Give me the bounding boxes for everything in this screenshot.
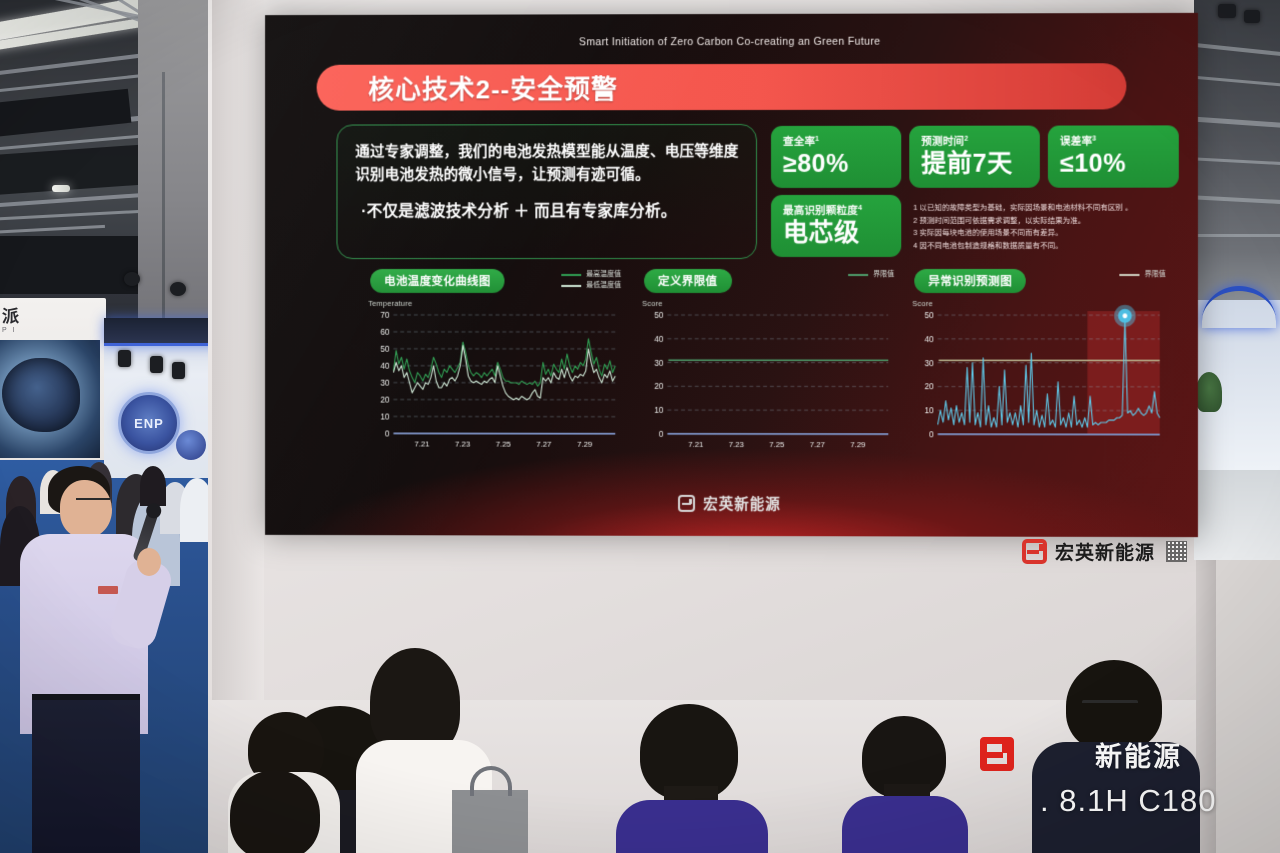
background-person (140, 466, 166, 506)
ceiling-truss (1194, 116, 1280, 129)
bag-body (452, 790, 528, 853)
chart-title: 异常识别预测图 (914, 269, 1026, 293)
body (842, 796, 968, 853)
metric-value: 提前7天 (921, 151, 1029, 177)
slide-footer-logo: 宏英新能源 (265, 492, 1198, 515)
y-tick: 10 (380, 411, 389, 421)
chart-ylabel: Score (642, 299, 663, 308)
slide-brand-text: 宏英新能源 (703, 493, 781, 514)
ceiling-truss (0, 225, 105, 234)
metric-value: 电芯级 (783, 220, 891, 246)
x-tick: 7.25 (769, 440, 785, 449)
brand-mark-icon (678, 495, 695, 512)
y-tick: 10 (925, 405, 935, 415)
metric-label: 误差率3 (1060, 133, 1169, 148)
ceiling-truss (1194, 195, 1280, 205)
y-tick: 40 (654, 334, 664, 344)
spotlight (150, 356, 163, 373)
ceiling-rigging (0, 89, 131, 137)
x-tick: 7.27 (536, 440, 551, 449)
booth-sign: 新能源 (1095, 735, 1182, 774)
y-tick: 50 (925, 310, 935, 320)
chart-plot-area: 01020304050 (912, 311, 1165, 453)
presenter-hand (137, 548, 161, 576)
slide-eyebrow: Smart Initiation of Zero Carbon Co-creat… (265, 35, 1198, 49)
booth-left-brand-text: 派 (2, 307, 20, 326)
legend-label: 界限值 (1145, 270, 1166, 281)
wall-brand-text: 宏英新能源 (1055, 538, 1155, 565)
shirt-logo (98, 586, 118, 594)
hall-pole (162, 72, 165, 337)
statement-paragraph-2: ·不仅是滤波技术分析 ＋ 而且有专家库分析。 (355, 200, 740, 224)
y-tick: 40 (380, 361, 389, 371)
chart-title: 电池温度变化曲线图 (370, 269, 504, 293)
metric-card-recall: 查全率1 ≥80% (771, 126, 901, 188)
chart-title: 定义界限值 (644, 269, 731, 293)
y-tick: 10 (654, 405, 664, 415)
x-tick: 7.23 (729, 440, 745, 449)
booth-plant (1196, 372, 1222, 412)
booth-product-screen (0, 340, 100, 458)
footnote-4: 4 因不同电池包制造规格和数据质量有不同。 (913, 240, 1187, 253)
presenter-face (60, 480, 112, 538)
booth-left-brand: 派 P I (0, 302, 88, 332)
chart-plot-area: 0102030405060707.217.237.257.277.29 (368, 311, 621, 452)
y-tick: 50 (654, 310, 664, 320)
metric-card-lead-time: 预测时间2 提前7天 (909, 126, 1040, 188)
footnote-2: 2 预测时间范围可依据需求调整，以实际结果为准。 (913, 214, 1187, 227)
y-tick: 30 (654, 357, 664, 367)
x-tick: 7.21 (688, 440, 704, 449)
ceiling-truss (1194, 234, 1280, 237)
enp-logo: ENP (118, 392, 180, 454)
x-tick: 7.29 (850, 440, 866, 449)
legend-label: 最高温度值 (586, 270, 621, 281)
y-tick: 40 (925, 334, 935, 344)
presenter-trousers (32, 700, 140, 853)
eyeglasses-icon (1082, 700, 1138, 710)
y-tick: 20 (380, 394, 389, 404)
booth-left-brand-sub: P I (2, 327, 88, 334)
x-tick: 7.23 (455, 439, 471, 448)
slide-title-bar: 核心技术2--安全预警 (317, 63, 1127, 110)
footnotes: 1 以已知的故障类型为基础，实际因场景和电池材料不同有区别 。 2 预测时间范围… (913, 202, 1187, 253)
legend-item: 最低温度值 (561, 281, 621, 292)
hall-right-background (1194, 0, 1280, 560)
y-tick: 30 (925, 358, 935, 368)
spotlight (172, 362, 185, 379)
chart-ylabel: Score (912, 299, 933, 308)
exhibition-hall-photo: 派 P I ENP Smart Initiation of Zer (0, 0, 1280, 853)
x-tick: 7.21 (414, 439, 430, 448)
chart-temperature-curve: 电池温度变化曲线图 最高温度值 最低温度值 Temperature 010203… (364, 269, 623, 474)
qr-code-icon (1166, 541, 1187, 562)
chart-anomaly-prediction: 异常识别预测图 界限值 Score 01020304050 (908, 269, 1167, 475)
chart-legend: 界限值 (848, 270, 894, 281)
statement-paragraph-1: 通过专家调整，我们的电池发热模型能从温度、电压等维度识别电池发热的微小信号，让预… (355, 141, 740, 187)
slide-title: 核心技术2--安全预警 (368, 69, 618, 106)
chart-legend: 界限值 (1119, 270, 1165, 281)
ceiling-rigging (0, 145, 141, 195)
legend-label: 界限值 (873, 270, 894, 281)
chart-legend: 最高温度值 最低温度值 (561, 270, 621, 292)
spotlight (1218, 4, 1236, 18)
booth-mid-decor (176, 430, 206, 460)
metric-value: ≥80% (783, 151, 891, 177)
head-hair (230, 770, 320, 853)
metric-label: 查全率1 (783, 134, 891, 149)
ceiling-light (52, 185, 70, 192)
chart-plot-area: 010203040507.217.237.257.277.29 (642, 311, 894, 452)
metric-value: ≤10% (1060, 150, 1169, 176)
footnote-1: 1 以已知的故障类型为基础，实际因场景和电池材料不同有区别 。 (913, 202, 1187, 215)
legend-item: 最高温度值 (561, 270, 621, 281)
y-tick: 20 (654, 381, 664, 391)
enp-logo-text: ENP (134, 416, 164, 431)
booth-sign-code: . 8.1H C180 (1040, 783, 1216, 819)
x-tick: 7.27 (810, 440, 825, 449)
wall-brand-logo: 宏英新能源 (1022, 538, 1187, 565)
booth-sign-name: 新能源 (1095, 735, 1182, 774)
legend-item: 界限值 (1119, 270, 1165, 281)
y-tick: 0 (929, 429, 934, 439)
ceiling-truss (1194, 75, 1280, 88)
x-tick: 7.29 (577, 440, 593, 449)
x-tick: 7.25 (496, 439, 512, 448)
statement-box: 通过专家调整，我们的电池发热模型能从温度、电压等维度识别电池发热的微小信号，让预… (336, 124, 757, 259)
footnote-3: 3 实际因每块电池的使用场景不同而有差异。 (913, 227, 1187, 240)
metric-card-error-rate: 误差率3 ≤10% (1048, 125, 1179, 187)
y-tick: 20 (925, 381, 935, 391)
y-tick: 60 (380, 327, 389, 337)
legend-label: 最低温度值 (586, 281, 621, 292)
presentation-slide: Smart Initiation of Zero Carbon Co-creat… (265, 13, 1198, 537)
metric-card-granularity: 最高识别颗粒度4 电芯级 (771, 195, 901, 257)
chart-threshold-definition: 定义界限值 界限值 Score 010203040507.217.237.257… (638, 269, 896, 474)
legend-item: 界限值 (848, 270, 894, 281)
y-tick: 30 (380, 377, 389, 387)
eyeglasses-icon (76, 498, 110, 507)
y-tick: 0 (659, 429, 664, 439)
metric-label: 最高识别颗粒度4 (783, 203, 891, 218)
spotlight (124, 272, 140, 286)
ceiling-truss (1194, 157, 1280, 166)
ceiling-rigging (0, 236, 148, 294)
y-tick: 70 (380, 310, 389, 320)
metric-label: 预测时间2 (921, 134, 1029, 149)
spotlight (118, 350, 131, 367)
y-tick: 50 (380, 344, 389, 354)
spotlight (170, 282, 186, 296)
booth-sign-mark-icon (980, 737, 1014, 771)
brand-mark-icon (1022, 539, 1047, 564)
spotlight (1244, 10, 1260, 23)
hall-column (138, 0, 210, 330)
y-tick: 0 (385, 428, 390, 438)
body (616, 800, 768, 853)
chart-ylabel: Temperature (368, 299, 412, 308)
ceiling-truss (1194, 42, 1280, 57)
